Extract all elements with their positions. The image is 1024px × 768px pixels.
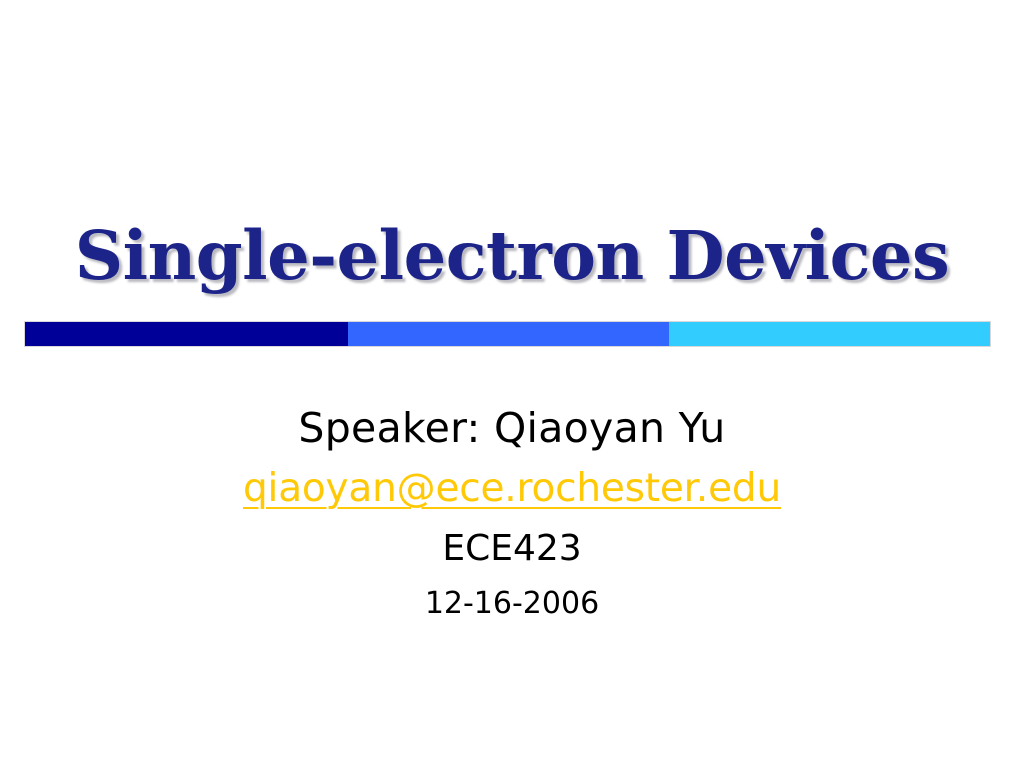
speaker-line: Speaker: Qiaoyan Yu	[0, 398, 1024, 458]
slide-title: Single-electron Devices	[75, 221, 950, 291]
course-code: ECE423	[0, 520, 1024, 578]
divider-segment-cyan	[669, 322, 990, 346]
presentation-date: 12-16-2006	[0, 578, 1024, 630]
slide-body: Speaker: Qiaoyan Yu qiaoyan@ece.rocheste…	[0, 398, 1024, 630]
presentation-slide: Single-electron Devices Speaker: Qiaoyan…	[0, 0, 1024, 768]
divider-segment-navy	[25, 322, 348, 346]
tricolor-divider-bar	[25, 322, 990, 346]
email-link[interactable]: qiaoyan@ece.rochester.edu	[0, 458, 1024, 520]
divider-segment-blue	[348, 322, 668, 346]
title-block: Single-electron Devices	[0, 176, 1024, 336]
